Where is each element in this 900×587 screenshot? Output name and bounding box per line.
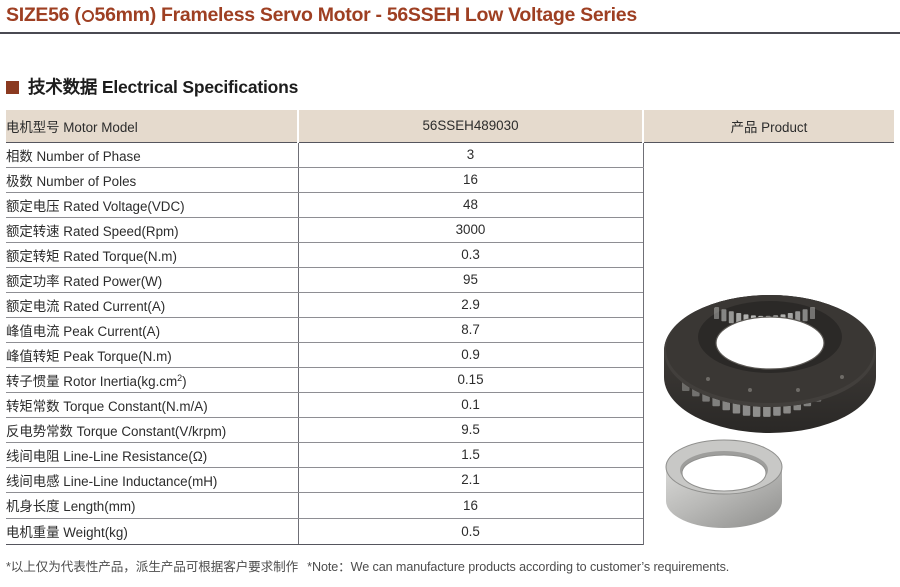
diameter-circle-icon — [82, 10, 94, 22]
row-label: 额定电压 Rated Voltage(VDC) — [6, 192, 298, 217]
row-value: 0.1 — [298, 392, 643, 417]
row-value: 0.9 — [298, 342, 643, 367]
row-label: 转矩常数 Torque Constant(N.m/A) — [6, 392, 298, 417]
electrical-specifications-table: 电机型号 Motor Model 56SSEH489030 产品 Product… — [6, 110, 894, 545]
row-value: 0.15 — [298, 367, 643, 392]
column-header-motor-model: 电机型号 Motor Model — [6, 110, 298, 142]
row-value: 8.7 — [298, 317, 643, 342]
row-value: 16 — [298, 492, 643, 518]
footnote-english: *Note：We can manufacture products accord… — [307, 560, 729, 574]
row-label: 峰值转矩 Peak Torque(N.m) — [6, 342, 298, 367]
row-label: 额定电流 Rated Current(A) — [6, 292, 298, 317]
row-value: 0.3 — [298, 242, 643, 267]
row-label: 转子惯量 Rotor Inertia(kg.cm2) — [6, 367, 298, 392]
section-title: 技术数据 Electrical Specifications — [28, 74, 298, 99]
row-value: 9.5 — [298, 417, 643, 442]
page-title-prefix: SIZE56 ( — [6, 4, 81, 26]
row-value: 2.1 — [298, 467, 643, 492]
row-value: 3000 — [298, 217, 643, 242]
product-photo-wrapper — [644, 143, 895, 543]
table-row: 相数 Number of Phase3 — [6, 142, 894, 167]
row-value: 0.5 — [298, 518, 643, 544]
row-label: 相数 Number of Phase — [6, 142, 298, 167]
row-value: 2.9 — [298, 292, 643, 317]
row-label: 机身长度 Length(mm) — [6, 492, 298, 518]
row-label: 线间电阻 Line-Line Resistance(Ω) — [6, 442, 298, 467]
row-label: 额定转矩 Rated Torque(N.m) — [6, 242, 298, 267]
row-value: 16 — [298, 167, 643, 192]
square-bullet-icon — [6, 81, 19, 94]
page-title-suffix: 56mm) Frameless Servo Motor - 56SSEH Low… — [95, 4, 637, 26]
column-header-model-value: 56SSEH489030 — [298, 110, 643, 142]
row-label: 反电势常数 Torque Constant(V/krpm) — [6, 417, 298, 442]
title-divider-rule — [0, 32, 900, 34]
footnote: *以上仅为代表性产品，派生产品可根据客户要求制作*Note：We can man… — [6, 556, 729, 575]
section-header: 技术数据 Electrical Specifications — [6, 74, 298, 99]
row-label: 额定功率 Rated Power(W) — [6, 267, 298, 292]
column-header-product: 产品 Product — [643, 110, 894, 142]
table-header-row: 电机型号 Motor Model 56SSEH489030 产品 Product — [6, 110, 894, 142]
superscript: 2 — [177, 373, 182, 383]
row-value: 95 — [298, 267, 643, 292]
row-value: 3 — [298, 142, 643, 167]
frameless-motor-stator-and-rotor-photo — [652, 251, 886, 531]
row-label: 电机重量 Weight(kg) — [6, 518, 298, 544]
row-value: 1.5 — [298, 442, 643, 467]
page-title: SIZE56 (56mm) Frameless Servo Motor - 56… — [6, 4, 637, 27]
product-image-cell — [643, 142, 894, 544]
footnote-chinese: *以上仅为代表性产品，派生产品可根据客户要求制作 — [6, 560, 298, 574]
row-label: 线间电感 Line-Line Inductance(mH) — [6, 467, 298, 492]
row-value: 48 — [298, 192, 643, 217]
row-label: 额定转速 Rated Speed(Rpm) — [6, 217, 298, 242]
row-label: 峰值电流 Peak Current(A) — [6, 317, 298, 342]
row-label: 极数 Number of Poles — [6, 167, 298, 192]
